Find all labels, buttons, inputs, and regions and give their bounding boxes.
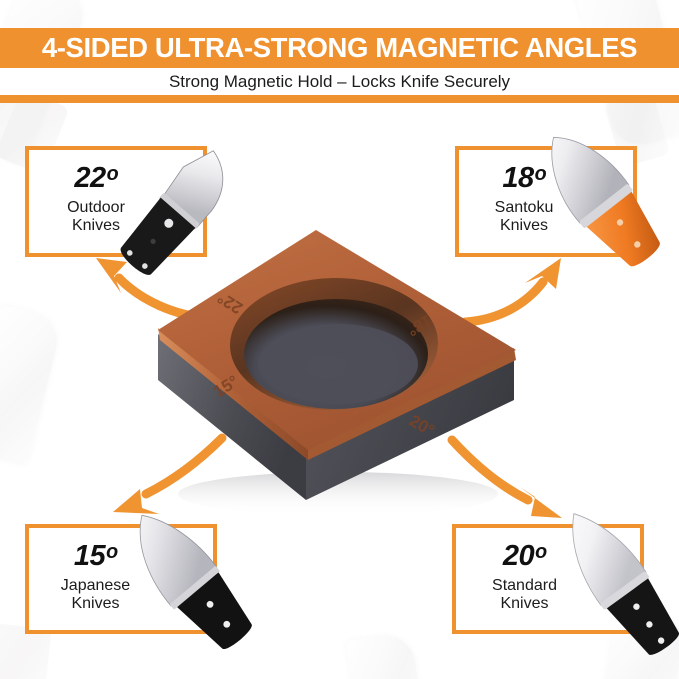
angle-label-line1: Outdoor: [37, 199, 155, 217]
header-banner: 4-SIDED ULTRA-STRONG MAGNETIC ANGLES: [0, 28, 679, 68]
angle-label-line2: Knives: [462, 595, 587, 613]
angle-label-line1: Japanese: [33, 577, 158, 595]
angle-card-santoku[interactable]: 18ᵒ Santoku Knives: [455, 146, 637, 257]
page-subtitle: Strong Magnetic Hold – Locks Knife Secur…: [169, 72, 510, 92]
angle-label-line1: Standard: [462, 577, 587, 595]
knife-japanese-rivet-2: [222, 619, 232, 629]
ghost-knife-mid-left: [0, 304, 63, 465]
page-title: 4-SIDED ULTRA-STRONG MAGNETIC ANGLES: [42, 32, 637, 64]
angle-card-japanese[interactable]: 15ᵒ Japanese Knives: [25, 524, 217, 634]
angle-card-outdoor-text: 22ᵒ Outdoor Knives: [37, 164, 155, 236]
knife-standard-rivet-3: [657, 636, 666, 645]
angle-card-outdoor[interactable]: 22ᵒ Outdoor Knives: [25, 146, 207, 257]
angle-label-line1: Santoku: [465, 199, 583, 217]
header-subtitle-wrap: Strong Magnetic Hold – Locks Knife Secur…: [0, 68, 679, 95]
infographic-canvas: 4-SIDED ULTRA-STRONG MAGNETIC ANGLES Str…: [0, 0, 679, 679]
angle-card-standard-text: 20ᵒ Standard Knives: [462, 542, 587, 614]
product-sharpener-base: 22° 18° 15° 20°: [128, 222, 548, 522]
angle-value: 18ᵒ: [465, 164, 583, 193]
knife-standard-rivet-2: [645, 620, 654, 629]
angle-label-line2: Knives: [37, 217, 155, 235]
angle-value: 22ᵒ: [37, 164, 155, 193]
header-divider-bar: [0, 95, 679, 103]
angle-value: 15ᵒ: [33, 542, 158, 571]
angle-card-santoku-text: 18ᵒ Santoku Knives: [465, 164, 583, 236]
angle-card-standard[interactable]: 20ᵒ Standard Knives: [452, 524, 644, 634]
ghost-knife-bottom-center: [346, 632, 425, 679]
angle-card-japanese-text: 15ᵒ Japanese Knives: [33, 542, 158, 614]
product-well-floor: [258, 324, 418, 404]
angle-value: 20ᵒ: [462, 542, 587, 571]
angle-label-line2: Knives: [33, 595, 158, 613]
angle-label-line2: Knives: [465, 217, 583, 235]
